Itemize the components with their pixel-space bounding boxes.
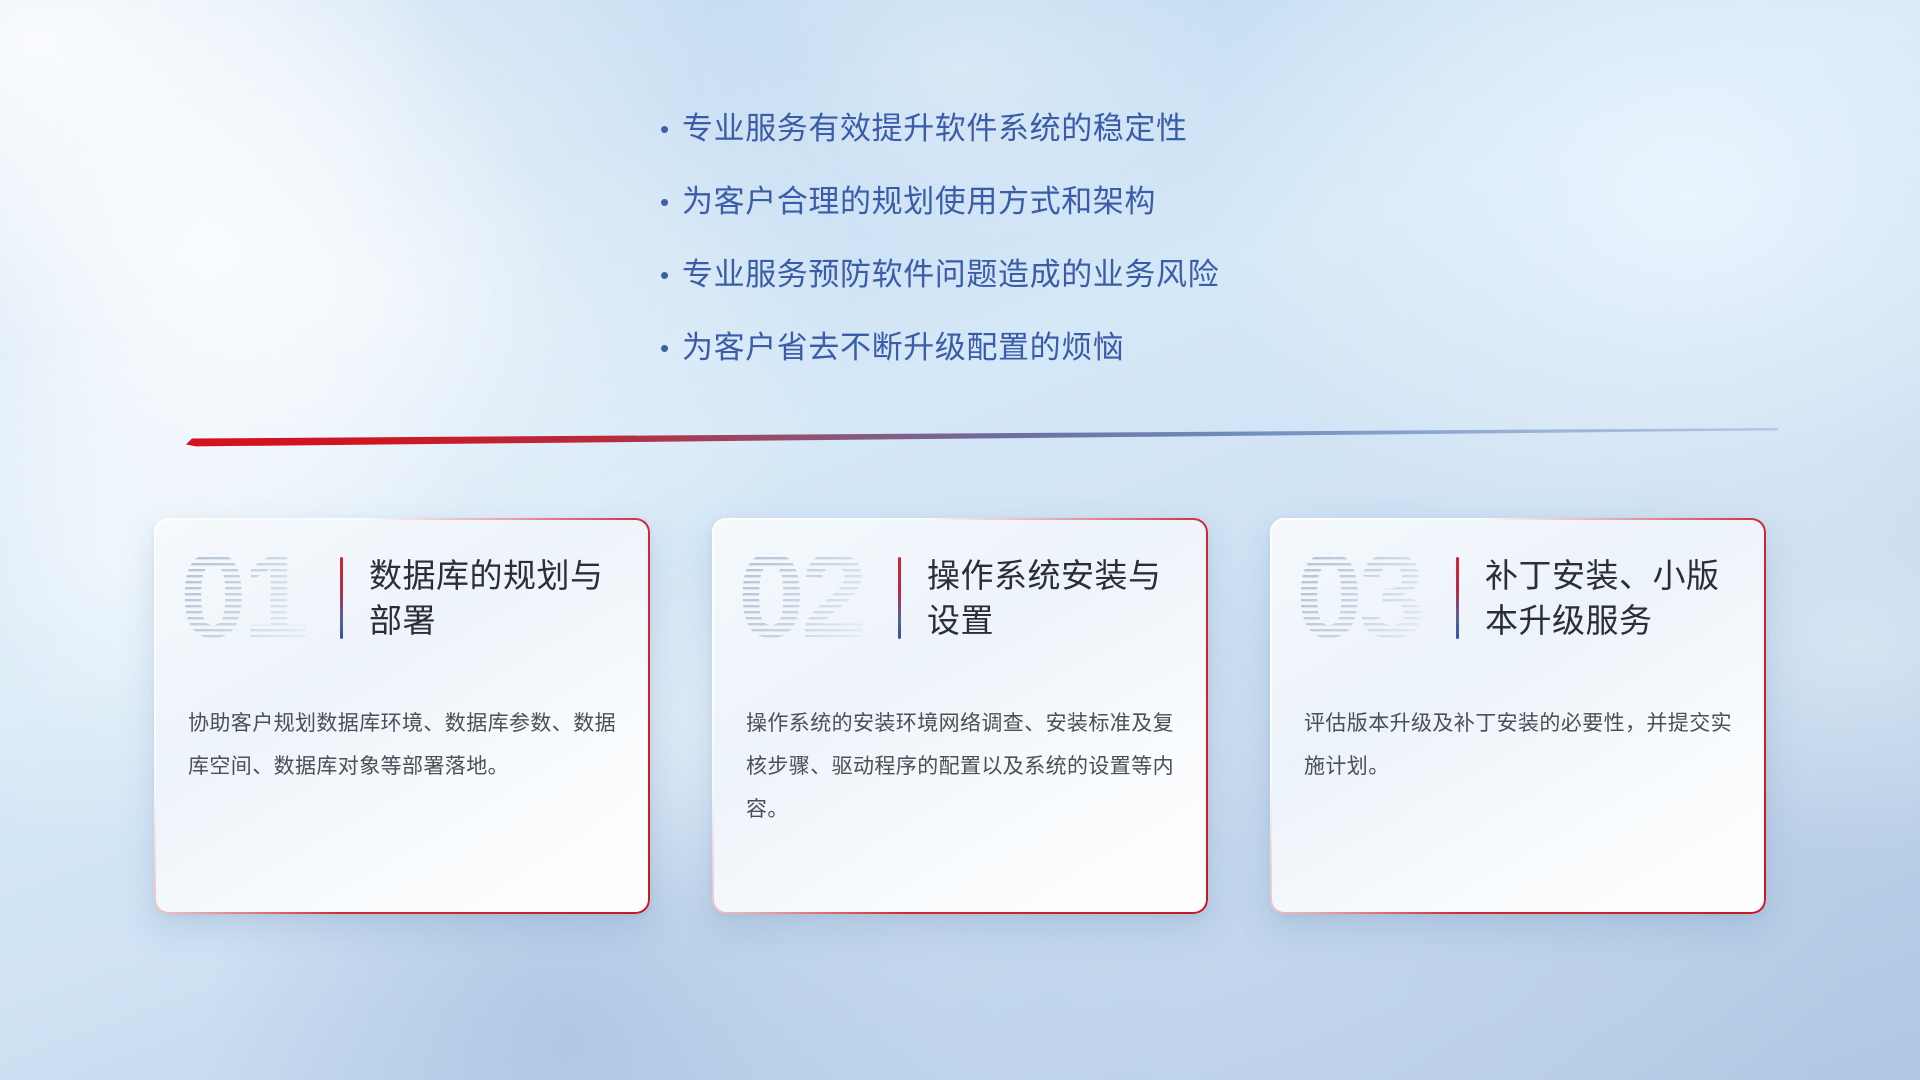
card-number-watermark: 02 bbox=[738, 533, 894, 663]
card-title: 操作系统安装与设置 bbox=[927, 553, 1177, 643]
service-card[interactable]: 02 操作系统安装与设置 操作系统的安装环境网络调查、安装标准及复核步骤、驱动程… bbox=[712, 518, 1208, 914]
benefits-bullet-list: • 专业服务有效提升软件系统的稳定性 • 为客户合理的规划使用方式和架构 • 专… bbox=[660, 108, 1520, 400]
svg-text:01: 01 bbox=[180, 533, 307, 663]
slide-canvas: • 专业服务有效提升软件系统的稳定性 • 为客户合理的规划使用方式和架构 • 专… bbox=[0, 0, 1920, 1080]
card-number-text: 02 bbox=[712, 831, 713, 832]
card-number-watermark: 01 bbox=[180, 533, 336, 663]
striped-number-icon: 02 bbox=[738, 533, 894, 663]
card-header: 01 数据库的规划与部署 bbox=[154, 518, 650, 678]
card-title: 补丁安装、小版本升级服务 bbox=[1485, 553, 1735, 643]
title-accent-bar bbox=[898, 557, 901, 639]
service-card[interactable]: 03 补丁安装、小版本升级服务 评估版本升级及补丁安装的必要性，并提交实施计划。… bbox=[1270, 518, 1766, 914]
striped-number-icon: 01 bbox=[180, 533, 336, 663]
svg-text:02: 02 bbox=[738, 533, 863, 663]
bullet-marker-icon: • bbox=[660, 108, 682, 150]
bullet-text: 专业服务有效提升软件系统的稳定性 bbox=[682, 108, 1188, 150]
gradient-wedge-divider bbox=[186, 427, 1778, 447]
title-accent-bar bbox=[340, 557, 343, 639]
svg-text:03: 03 bbox=[1296, 533, 1422, 663]
card-header: 02 操作系统安装与设置 bbox=[712, 518, 1208, 678]
card-description: 操作系统的安装环境网络调查、安装标准及复核步骤、驱动程序的配置以及系统的设置等内… bbox=[712, 678, 1208, 831]
bullet-marker-icon: • bbox=[660, 254, 682, 296]
list-item: • 专业服务有效提升软件系统的稳定性 bbox=[660, 108, 1520, 150]
divider-shape-icon bbox=[186, 427, 1778, 447]
bullet-marker-icon: • bbox=[660, 327, 682, 369]
bullet-text: 为客户合理的规划使用方式和架构 bbox=[682, 181, 1156, 223]
title-accent-bar bbox=[1456, 557, 1459, 639]
card-number-watermark: 03 bbox=[1296, 533, 1452, 663]
card-description: 协助客户规划数据库环境、数据库参数、数据库空间、数据库对象等部署落地。 bbox=[154, 678, 650, 788]
card-header: 03 补丁安装、小版本升级服务 bbox=[1270, 518, 1766, 678]
service-card-list: 01 数据库的规划与部署 协助客户规划数据库环境、数据库参数、数据库空间、数据库… bbox=[0, 518, 1920, 914]
card-description: 评估版本升级及补丁安装的必要性，并提交实施计划。 bbox=[1270, 678, 1766, 788]
list-item: • 为客户省去不断升级配置的烦恼 bbox=[660, 327, 1520, 369]
list-item: • 专业服务预防软件问题造成的业务风险 bbox=[660, 254, 1520, 296]
bullet-marker-icon: • bbox=[660, 181, 682, 223]
card-title: 数据库的规划与部署 bbox=[369, 553, 619, 643]
card-number-text: 03 bbox=[1270, 788, 1271, 789]
bullet-text: 为客户省去不断升级配置的烦恼 bbox=[682, 327, 1124, 369]
list-item: • 为客户合理的规划使用方式和架构 bbox=[660, 181, 1520, 223]
striped-number-icon: 03 bbox=[1296, 533, 1452, 663]
bullet-text: 专业服务预防软件问题造成的业务风险 bbox=[682, 254, 1219, 296]
card-number-text: 01 bbox=[154, 788, 155, 789]
service-card[interactable]: 01 数据库的规划与部署 协助客户规划数据库环境、数据库参数、数据库空间、数据库… bbox=[154, 518, 650, 914]
